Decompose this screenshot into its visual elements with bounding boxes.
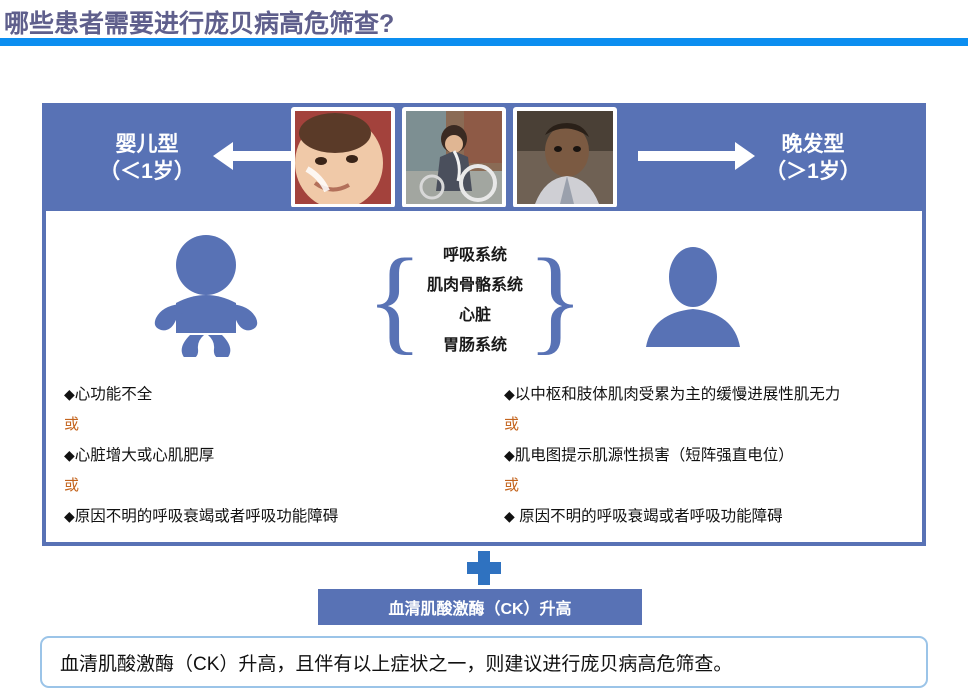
bullet-marker-icon: ◆: [504, 447, 515, 463]
bullet-marker-icon: ◆: [504, 508, 515, 524]
or-connector: 或: [504, 410, 922, 440]
symptom-item: ◆心功能不全: [64, 379, 496, 410]
symptom-text: 肌电图提示肌源性损害（短阵强直电位）: [515, 447, 794, 464]
label-infantile-onset: 婴儿型 （＜1岁）: [62, 131, 232, 185]
system-item: 呼吸系统: [427, 241, 523, 271]
photo-teen-wheelchair: [402, 107, 506, 208]
symptoms-panel: { 呼吸系统 肌肉骨骼系统 心脏 胃肠系统 } ◆心功能不全 或 ◆心脏增大或心…: [42, 207, 926, 546]
label-infantile-onset-line2: （＜1岁）: [62, 158, 232, 185]
symptom-text: 以中枢和肢体肌肉受累为主的缓慢进展性肌无力: [515, 386, 841, 403]
arrow-left-icon: [213, 142, 233, 170]
baby-icon: [150, 231, 262, 362]
affected-systems-group: { 呼吸系统 肌肉骨骼系统 心脏 胃肠系统 }: [346, 233, 604, 368]
or-connector: 或: [64, 471, 496, 501]
brace-left-icon: {: [366, 252, 423, 349]
symptom-item: ◆以中枢和肢体肌肉受累为主的缓慢进展性肌无力: [504, 379, 922, 410]
affected-systems-list: 呼吸系统 肌肉骨骼系统 心脏 胃肠系统: [427, 241, 523, 361]
conclusion-text: 血清肌酸激酶（CK）升高，且伴有以上症状之一，则建议进行庞贝病高危筛查。: [60, 649, 732, 676]
system-item: 肌肉骨骼系统: [427, 271, 523, 301]
bullet-marker-icon: ◆: [64, 508, 75, 524]
title-underline-rule: [0, 38, 968, 46]
symptom-text: 心脏增大或心肌肥厚: [75, 447, 215, 464]
symptom-text: 心功能不全: [75, 386, 153, 403]
symptom-text: 原因不明的呼吸衰竭或者呼吸功能障碍: [75, 508, 339, 525]
slide-header: 哪些患者需要进行庞贝病高危筛查?: [0, 0, 968, 52]
ck-banner-label: 血清肌酸激酶（CK）升高: [388, 595, 571, 619]
late-onset-symptom-list: ◆以中枢和肢体肌肉受累为主的缓慢进展性肌无力 或 ◆肌电图提示肌源性损害（短阵强…: [496, 379, 922, 532]
ck-elevated-banner: 血清肌酸激酶（CK）升高: [318, 589, 642, 625]
symptom-item: ◆心脏增大或心肌肥厚: [64, 440, 496, 471]
symptom-item: ◆ 原因不明的呼吸衰竭或者呼吸功能障碍: [504, 501, 922, 532]
symptom-item: ◆肌电图提示肌源性损害（短阵强直电位）: [504, 440, 922, 471]
phenotype-spectrum-band: 婴儿型 （＜1岁）: [42, 103, 926, 207]
conclusion-box: 血清肌酸激酶（CK）升高，且伴有以上症状之一，则建议进行庞贝病高危筛查。: [40, 636, 928, 688]
bullet-marker-icon: ◆: [504, 386, 515, 402]
brace-right-icon: }: [527, 252, 584, 349]
adult-person-icon: [642, 247, 744, 352]
or-connector: 或: [64, 410, 496, 440]
label-infantile-onset-line1: 婴儿型: [62, 131, 232, 158]
symptom-text: 原因不明的呼吸衰竭或者呼吸功能障碍: [515, 508, 783, 525]
system-item: 心脏: [427, 301, 523, 331]
system-item: 胃肠系统: [427, 331, 523, 361]
label-late-onset-line2: （＞1岁）: [718, 158, 908, 185]
bullet-marker-icon: ◆: [64, 386, 75, 402]
photo-infant: [291, 107, 395, 208]
symptom-columns: ◆心功能不全 或 ◆心脏增大或心肌肥厚 或 ◆原因不明的呼吸衰竭或者呼吸功能障碍…: [46, 379, 922, 532]
bullet-marker-icon: ◆: [64, 447, 75, 463]
label-late-onset-line1: 晚发型: [718, 131, 908, 158]
symptom-item: ◆原因不明的呼吸衰竭或者呼吸功能障碍: [64, 501, 496, 532]
plus-icon: [467, 551, 501, 585]
infantile-symptom-list: ◆心功能不全 或 ◆心脏增大或心肌肥厚 或 ◆原因不明的呼吸衰竭或者呼吸功能障碍: [46, 379, 496, 532]
page-title: 哪些患者需要进行庞贝病高危筛查?: [4, 4, 394, 40]
label-late-onset: 晚发型 （＞1岁）: [718, 131, 908, 185]
photo-adult-man: [513, 107, 617, 208]
or-connector: 或: [504, 471, 922, 501]
patient-photo-strip: [291, 107, 617, 208]
